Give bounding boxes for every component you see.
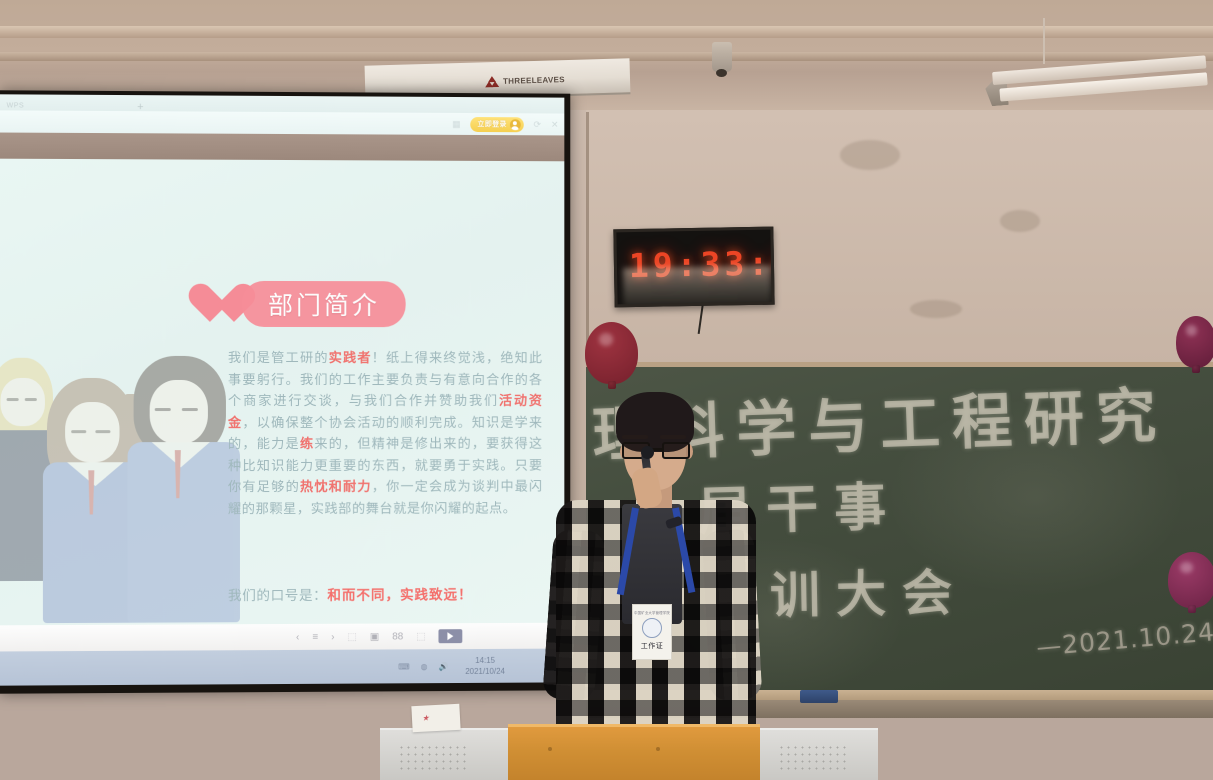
volume-icon[interactable]: 🔊 bbox=[438, 662, 448, 671]
close-icon[interactable]: ✕ bbox=[551, 119, 558, 130]
blackboard-date: —2021.10.24 bbox=[1035, 617, 1213, 662]
presentation-toolbar: ‹ ≡ › ⬚ ▣ 88 ⬚ bbox=[0, 623, 564, 652]
badge-label: 工作证 bbox=[641, 641, 664, 651]
classroom-scene: THREELEAVES WPS + ▦ 立即登录 ⟳ ✕ bbox=[0, 0, 1213, 780]
balloon-right-lower bbox=[1168, 552, 1213, 608]
paper-note: ★ bbox=[411, 704, 460, 732]
balloon-left bbox=[585, 322, 638, 384]
projection-screen-frame: WPS + ▦ 立即登录 ⟳ ✕ bbox=[0, 90, 570, 693]
presenter-eyebrow bbox=[622, 435, 648, 439]
clock-glass-reflection bbox=[623, 266, 772, 308]
speaker-right bbox=[760, 728, 878, 780]
badge-org-label: 中国矿业大学管理学院 bbox=[634, 610, 670, 615]
prev-slide-icon[interactable]: ‹ bbox=[296, 631, 299, 642]
wall-blemish bbox=[910, 300, 962, 318]
screen-dark-band bbox=[0, 133, 564, 162]
slide-title-row: 部门简介 bbox=[188, 281, 406, 327]
wall-blemish bbox=[840, 140, 900, 170]
three-leaf-triangle-icon bbox=[485, 76, 499, 87]
slide-body-highlight: 热忱和耐力 bbox=[300, 480, 372, 495]
ceiling-beam-1 bbox=[0, 26, 1213, 38]
work-id-badge: 中国矿业大学管理学院 工作证 bbox=[632, 604, 672, 660]
network-icon[interactable]: ◍ bbox=[421, 662, 428, 671]
taskbar-clock[interactable]: 14:15 2021/10/24 bbox=[465, 655, 505, 677]
speaker-grille bbox=[778, 744, 850, 774]
security-camera-icon bbox=[712, 42, 732, 72]
lectern bbox=[508, 724, 760, 780]
light-cord bbox=[1043, 18, 1045, 64]
slide-canvas: 部门简介 我们是管工研的实践者！纸上得来终觉浅，绝知此事要躬行。我们的工作主要负… bbox=[0, 159, 564, 626]
speaker-left bbox=[380, 728, 508, 780]
account-badge[interactable]: 立即登录 bbox=[471, 117, 524, 132]
single-page-icon[interactable]: ▣ bbox=[370, 631, 379, 642]
windows-taskbar: ⌨ ◍ 🔊 14:15 2021/10/24 bbox=[0, 649, 564, 686]
play-icon[interactable] bbox=[438, 629, 462, 643]
projected-screen: WPS + ▦ 立即登录 ⟳ ✕ bbox=[0, 94, 564, 685]
taskbar-date: 2021/10/24 bbox=[465, 666, 505, 677]
blackboard-eraser bbox=[800, 690, 838, 703]
heart-icon bbox=[188, 283, 234, 325]
browser-chrome-row: ▦ 立即登录 ⟳ ✕ bbox=[0, 110, 564, 135]
glasses-icon bbox=[620, 442, 692, 459]
keyboard-icon[interactable]: ⌨ bbox=[398, 662, 409, 671]
user-avatar-icon bbox=[510, 119, 521, 130]
speaker-grille bbox=[398, 744, 470, 774]
menu-icon[interactable]: ≡ bbox=[312, 631, 318, 642]
slogan-prefix: 我们的口号是： bbox=[228, 588, 327, 604]
badge-seal-icon bbox=[642, 618, 662, 638]
microphone-head-icon bbox=[641, 446, 654, 459]
led-wall-clock: 19:33:46 bbox=[613, 227, 774, 308]
slide-body-text: 我们是管工研的实践者！纸上得来终觉浅，绝知此事要躬行。我们的工作主要负责与有意向… bbox=[228, 348, 543, 520]
browser-tab[interactable]: WPS bbox=[7, 102, 25, 109]
taskbar-time: 14:15 bbox=[475, 655, 495, 666]
slide-body-highlight: 练 bbox=[300, 437, 314, 452]
export-icon[interactable]: ⬚ bbox=[347, 631, 356, 642]
fit-page-icon[interactable]: ⬚ bbox=[416, 631, 425, 642]
slide-slogan: 我们的口号是：和而不同，实践致远！ bbox=[228, 583, 547, 604]
wall-blemish bbox=[1000, 210, 1040, 232]
projector-brand: THREELEAVES bbox=[485, 74, 565, 87]
refresh-icon[interactable]: ⟳ bbox=[534, 119, 541, 130]
presenter: 中国矿业大学管理学院 工作证 bbox=[548, 392, 763, 780]
next-slide-icon[interactable]: › bbox=[331, 631, 334, 642]
slide-body-highlight: 实践者 bbox=[329, 351, 372, 366]
grid-view-icon[interactable]: 88 bbox=[392, 631, 403, 642]
balloon-right-upper bbox=[1176, 316, 1213, 368]
slide-body-run: 我们是管工研的 bbox=[228, 351, 329, 366]
slide-title: 部门简介 bbox=[242, 281, 406, 327]
slogan-highlight: 和而不同，实践致远！ bbox=[327, 587, 472, 604]
projector-brand-label: THREELEAVES bbox=[503, 75, 565, 86]
account-label: 立即登录 bbox=[477, 119, 506, 129]
presenter-eyebrow bbox=[660, 435, 686, 439]
anime-artwork bbox=[0, 350, 224, 626]
grid-icon[interactable]: ▦ bbox=[452, 118, 460, 129]
